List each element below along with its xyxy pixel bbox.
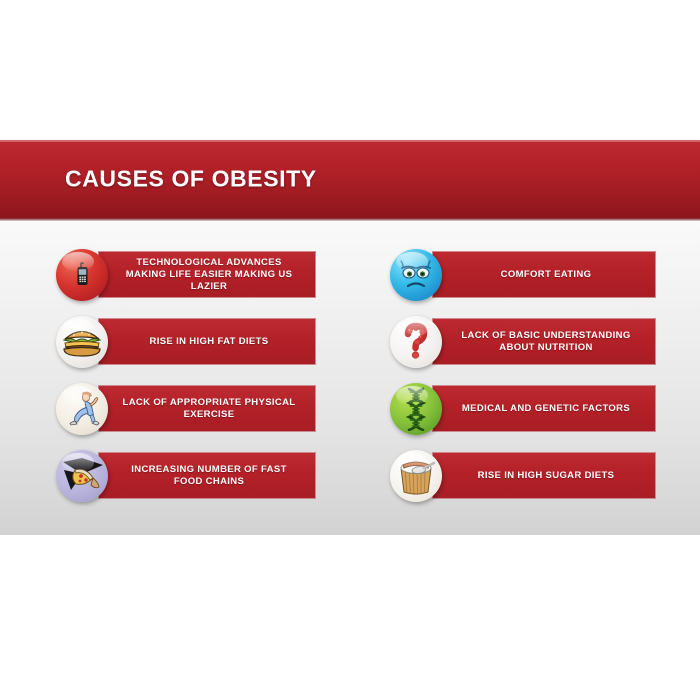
list-item[interactable]: LACK OF APPROPRIATE PHYSICAL EXERCISE bbox=[56, 385, 356, 439]
header-banner: CAUSES OF OBESITY bbox=[0, 140, 700, 218]
dna-helix-icon bbox=[390, 383, 442, 435]
cause-banner[interactable]: LACK OF BASIC UNDERSTANDING ABOUT NUTRIT… bbox=[432, 318, 656, 365]
content-panel: TECHNOLOGICAL ADVANCES MAKING LIFE EASIE… bbox=[0, 221, 700, 535]
sad-face-icon bbox=[390, 249, 442, 301]
list-item[interactable]: RISE IN HIGH FAT DIETS bbox=[56, 318, 356, 372]
pizza-slice-icon bbox=[56, 450, 108, 502]
list-item[interactable]: MEDICAL AND GENETIC FACTORS bbox=[390, 385, 690, 439]
cause-banner[interactable]: MEDICAL AND GENETIC FACTORS bbox=[432, 385, 656, 432]
mobile-phone-icon bbox=[56, 249, 108, 301]
cause-label: LACK OF BASIC UNDERSTANDING ABOUT NUTRIT… bbox=[433, 330, 655, 354]
list-item[interactable]: LACK OF BASIC UNDERSTANDING ABOUT NUTRIT… bbox=[390, 318, 690, 372]
page-title: CAUSES OF OBESITY bbox=[65, 166, 317, 193]
cause-label: COMFORT EATING bbox=[483, 269, 606, 281]
question-mark-fruit-icon bbox=[390, 316, 442, 368]
list-item[interactable]: TECHNOLOGICAL ADVANCES MAKING LIFE EASIE… bbox=[56, 251, 356, 305]
list-item[interactable]: INCREASING NUMBER OF FAST FOOD CHAINS bbox=[56, 452, 356, 506]
cause-banner[interactable]: COMFORT EATING bbox=[432, 251, 656, 298]
cause-label: MEDICAL AND GENETIC FACTORS bbox=[444, 403, 644, 415]
cause-banner[interactable]: LACK OF APPROPRIATE PHYSICAL EXERCISE bbox=[98, 385, 316, 432]
sugar-bowl-icon bbox=[390, 450, 442, 502]
running-person-icon bbox=[56, 383, 108, 435]
cause-label: TECHNOLOGICAL ADVANCES MAKING LIFE EASIE… bbox=[99, 257, 315, 293]
hamburger-icon bbox=[56, 316, 108, 368]
cause-banner[interactable]: INCREASING NUMBER OF FAST FOOD CHAINS bbox=[98, 452, 316, 499]
slide-canvas: CAUSES OF OBESITY TECHNOLOGICAL ADVANCES… bbox=[0, 0, 700, 700]
top-white-margin bbox=[0, 0, 700, 138]
bottom-white-margin bbox=[0, 535, 700, 700]
right-column: COMFORT EATING bbox=[390, 251, 690, 519]
cause-label: LACK OF APPROPRIATE PHYSICAL EXERCISE bbox=[99, 397, 315, 421]
list-item[interactable]: RISE IN HIGH SUGAR DIETS bbox=[390, 452, 690, 506]
cause-banner[interactable]: RISE IN HIGH SUGAR DIETS bbox=[432, 452, 656, 499]
cause-label: INCREASING NUMBER OF FAST FOOD CHAINS bbox=[99, 464, 315, 488]
cause-banner[interactable]: RISE IN HIGH FAT DIETS bbox=[98, 318, 316, 365]
causes-grid: TECHNOLOGICAL ADVANCES MAKING LIFE EASIE… bbox=[0, 221, 700, 535]
cause-banner[interactable]: TECHNOLOGICAL ADVANCES MAKING LIFE EASIE… bbox=[98, 251, 316, 298]
cause-label: RISE IN HIGH FAT DIETS bbox=[132, 336, 283, 348]
left-column: TECHNOLOGICAL ADVANCES MAKING LIFE EASIE… bbox=[56, 251, 356, 519]
list-item[interactable]: COMFORT EATING bbox=[390, 251, 690, 305]
cause-label: RISE IN HIGH SUGAR DIETS bbox=[460, 470, 629, 482]
